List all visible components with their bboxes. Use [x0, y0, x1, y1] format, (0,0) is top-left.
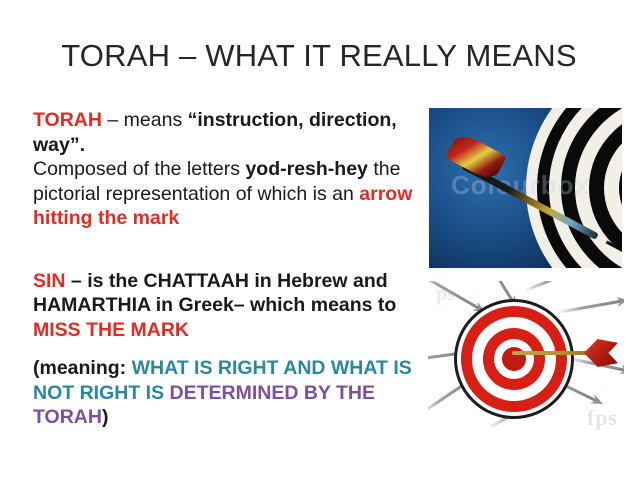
paragraph-torah: TORAH – means “instruction, direction, w… — [33, 108, 421, 231]
slide-canvas: TORAH – WHAT IT REALLY MEANS TORAH – mea… — [0, 0, 638, 479]
target-rings — [454, 299, 574, 419]
meaning-open-paren: (meaning: — [33, 357, 132, 379]
missed-arrow — [526, 281, 585, 292]
paragraph-meaning: (meaning: WHAT IS RIGHT AND WHAT IS NOT … — [33, 356, 421, 430]
body-text-column: TORAH – means “instruction, direction, w… — [33, 108, 421, 430]
highlight-miss-the-mark: MISS THE MARK — [33, 319, 189, 341]
paragraph-sin: SIN – is the CHATTAAH in Hebrew and HAMA… — [33, 269, 421, 343]
dart-hitting-dartboard-photo: Colourbox — [429, 108, 622, 268]
arrows-missing-target-illustration: ps fps — [428, 281, 624, 437]
torah-dash-means: – means — [102, 109, 188, 131]
sin-body: – is the CHATTAAH in Hebrew and HAMARTHI… — [33, 270, 396, 317]
hebrew-letters: yod-resh-hey — [245, 158, 367, 180]
page-title: TORAH – WHAT IT REALLY MEANS — [0, 38, 638, 74]
meaning-close-paren: ) — [102, 406, 109, 428]
watermark-text: fps — [587, 405, 618, 431]
term-torah: TORAH — [33, 109, 102, 131]
watermark-text-secondary: ps — [436, 283, 455, 306]
composed-prefix: Composed of the letters — [33, 158, 245, 180]
term-sin: SIN — [33, 270, 66, 292]
torah-period: . — [80, 134, 85, 156]
